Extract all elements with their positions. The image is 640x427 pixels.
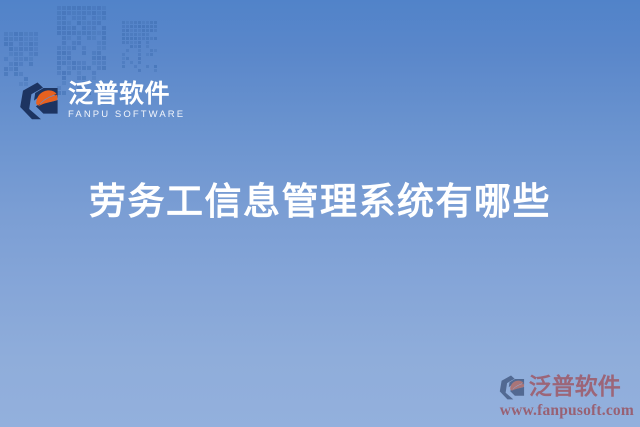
pixel-block xyxy=(146,29,149,32)
pixel-block xyxy=(138,49,141,52)
pixel-block xyxy=(102,26,106,30)
pixel-block xyxy=(87,6,91,10)
pixel-block xyxy=(4,42,8,46)
pixel-block xyxy=(4,67,8,71)
pixel-block xyxy=(82,21,86,25)
pixel-block xyxy=(130,37,133,40)
pixel-block xyxy=(57,61,61,65)
brand-name-en: FANPU SOFTWARE xyxy=(68,108,185,122)
pixel-block xyxy=(29,47,33,51)
pixel-block xyxy=(102,16,106,20)
pixel-block xyxy=(19,37,23,41)
pixel-block xyxy=(4,32,8,36)
pixel-block xyxy=(57,26,61,30)
pixel-block xyxy=(130,41,133,44)
pixel-block xyxy=(97,21,101,25)
pixel-block xyxy=(146,33,149,36)
pixel-block xyxy=(29,37,33,41)
pixel-block xyxy=(14,32,18,36)
pixel-block xyxy=(102,6,106,10)
pixel-block xyxy=(154,49,157,52)
pixel-block xyxy=(9,67,13,71)
pixel-block xyxy=(19,57,23,61)
pixel-block xyxy=(134,33,137,36)
pixel-block xyxy=(77,6,81,10)
pixel-block xyxy=(138,69,141,72)
pixel-block xyxy=(142,21,145,24)
pixel-block xyxy=(122,61,125,64)
pixel-block xyxy=(142,37,145,40)
pixel-block xyxy=(92,51,96,55)
pixel-block xyxy=(92,31,96,35)
pixel-block xyxy=(57,46,61,50)
pixel-block xyxy=(67,66,71,70)
pixel-block xyxy=(102,11,106,15)
pixel-block xyxy=(97,6,101,10)
pixel-block xyxy=(122,57,125,60)
pixel-block xyxy=(29,32,33,36)
pixel-block xyxy=(72,6,76,10)
pixel-block xyxy=(24,32,28,36)
pixel-block xyxy=(57,31,61,35)
brand-wordmark: 泛普软件 FANPU SOFTWARE xyxy=(68,80,185,122)
pixel-block xyxy=(57,16,61,20)
pixel-block xyxy=(72,11,76,15)
pixel-block xyxy=(154,21,157,24)
pixel-block xyxy=(87,31,91,35)
pixel-block xyxy=(57,66,61,70)
brand-logo-lockup: 泛普软件 FANPU SOFTWARE xyxy=(19,80,185,122)
pixel-block xyxy=(19,52,23,56)
pixel-block xyxy=(154,69,157,72)
pixel-block xyxy=(62,61,66,65)
pixel-block xyxy=(134,41,137,44)
pixel-block xyxy=(24,37,28,41)
pixel-block xyxy=(92,16,96,20)
pixel-block xyxy=(62,31,66,35)
pixel-block xyxy=(126,49,129,52)
pixel-block xyxy=(102,41,106,45)
pixel-block xyxy=(87,11,91,15)
pixel-block xyxy=(34,52,38,56)
pixel-block xyxy=(72,61,76,65)
pixel-block xyxy=(134,37,137,40)
pixel-block xyxy=(138,37,141,40)
pixel-block xyxy=(102,36,106,40)
pixel-block xyxy=(97,56,101,60)
pixel-block xyxy=(19,47,23,51)
pixel-block xyxy=(146,45,149,48)
pixel-block xyxy=(134,29,137,32)
pixel-block xyxy=(14,57,18,61)
brand-name-cn: 泛普软件 xyxy=(68,81,185,107)
pixel-block xyxy=(19,42,23,46)
pixel-block xyxy=(4,37,8,41)
pixel-block xyxy=(146,25,149,28)
pixel-block xyxy=(72,41,76,45)
pixel-block xyxy=(72,26,76,30)
pixel-block xyxy=(126,41,129,44)
watermark-url: www.fanpusoft.com xyxy=(500,401,634,420)
pixel-block xyxy=(138,21,141,24)
pixel-block xyxy=(154,25,157,28)
pixel-block xyxy=(82,6,86,10)
pixel-block xyxy=(97,61,101,65)
pixel-block xyxy=(77,21,81,25)
pixel-block xyxy=(122,37,125,40)
pixel-block xyxy=(82,51,86,55)
site-watermark: 泛普软件 www.fanpusoft.com xyxy=(499,375,634,420)
pixel-block xyxy=(146,53,149,56)
pixel-block xyxy=(134,45,137,48)
pixel-block xyxy=(9,42,13,46)
pixel-block xyxy=(19,32,23,36)
pixel-block xyxy=(92,56,96,60)
pixel-block xyxy=(146,41,149,44)
promo-banner: 泛普软件 FANPU SOFTWARE 劳务工信息管理系统有哪些 泛普软件 ww… xyxy=(0,0,640,427)
pixel-block xyxy=(126,33,129,36)
pixel-block xyxy=(138,61,141,64)
pixel-block xyxy=(4,72,8,76)
pixel-block xyxy=(87,66,91,70)
pixel-block xyxy=(34,37,38,41)
pixel-block xyxy=(67,31,71,35)
pixel-block xyxy=(62,11,66,15)
pixel-block xyxy=(92,61,96,65)
pixel-block xyxy=(72,66,76,70)
pixel-block xyxy=(67,11,71,15)
pixel-block xyxy=(24,47,28,51)
pixel-block xyxy=(154,65,157,68)
pixel-block xyxy=(97,31,101,35)
pixel-block xyxy=(62,71,66,75)
pixel-block xyxy=(130,29,133,32)
pixel-block xyxy=(14,37,18,41)
pixel-block xyxy=(130,33,133,36)
pixel-block xyxy=(87,26,91,30)
pixel-block xyxy=(77,41,81,45)
pixel-block xyxy=(130,45,133,48)
pixel-block xyxy=(102,31,106,35)
pixel-block xyxy=(92,11,96,15)
fanpu-logo-mark xyxy=(19,82,59,120)
fanpu-watermark-mark xyxy=(499,375,525,400)
pixel-block xyxy=(102,66,106,70)
pixel-block xyxy=(62,21,66,25)
pixel-block xyxy=(130,21,133,24)
pixel-block xyxy=(62,41,66,45)
pixel-block xyxy=(9,32,13,36)
pixel-block xyxy=(146,65,149,68)
pixel-block xyxy=(82,31,86,35)
pixel-block xyxy=(67,51,71,55)
pixel-block xyxy=(62,46,66,50)
pixel-block xyxy=(57,51,61,55)
pixel-block xyxy=(130,25,133,28)
pixel-block xyxy=(97,51,101,55)
pixel-block xyxy=(142,29,145,32)
pixel-block xyxy=(150,25,153,28)
pixel-block xyxy=(57,21,61,25)
pixel-block xyxy=(19,72,23,76)
pixel-block xyxy=(82,46,86,50)
pixel-block xyxy=(87,36,91,40)
pixel-block xyxy=(126,21,129,24)
pixel-block xyxy=(72,46,76,50)
pixel-block xyxy=(150,53,153,56)
watermark-brand-name: 泛普软件 xyxy=(529,376,621,399)
page-title: 劳务工信息管理系统有哪些 xyxy=(0,179,640,225)
pixel-block xyxy=(138,53,141,56)
pixel-block xyxy=(67,21,71,25)
pixel-block xyxy=(29,62,33,66)
pixel-block xyxy=(142,33,145,36)
pixel-block xyxy=(62,6,66,10)
pixel-block xyxy=(138,57,141,60)
pixel-block xyxy=(9,62,13,66)
pixel-block xyxy=(24,42,28,46)
pixel-block xyxy=(138,45,141,48)
pixel-block xyxy=(77,36,81,40)
pixel-block xyxy=(92,36,96,40)
pixel-block xyxy=(142,25,145,28)
pixel-block xyxy=(34,42,38,46)
pixel-block xyxy=(102,46,106,50)
pixel-block xyxy=(77,16,81,20)
pixel-block xyxy=(92,21,96,25)
pixel-block xyxy=(154,37,157,40)
pixel-block xyxy=(14,52,18,56)
pixel-block xyxy=(122,65,125,68)
pixel-block xyxy=(9,52,13,56)
pixel-block xyxy=(134,25,137,28)
pixel-block xyxy=(82,26,86,30)
pixel-block xyxy=(82,66,86,70)
pixel-block xyxy=(102,56,106,60)
pixel-block xyxy=(154,29,157,32)
pixel-block xyxy=(138,33,141,36)
pixel-block xyxy=(97,66,101,70)
pixel-block xyxy=(14,62,18,66)
pixel-block xyxy=(67,56,71,60)
pixel-block xyxy=(9,47,13,51)
pixel-block xyxy=(62,26,66,30)
pixel-block xyxy=(67,26,71,30)
pixel-block xyxy=(14,72,18,76)
pixel-block xyxy=(134,21,137,24)
pixel-block xyxy=(29,52,33,56)
pixel-block xyxy=(97,11,101,15)
pixel-block xyxy=(77,66,81,70)
pixel-block xyxy=(77,61,81,65)
pixel-block xyxy=(29,57,33,61)
pixel-block xyxy=(138,25,141,28)
pixel-block xyxy=(77,11,81,15)
pixel-block xyxy=(126,25,129,28)
pixel-block xyxy=(57,71,61,75)
pixel-block xyxy=(72,31,76,35)
pixel-block xyxy=(122,41,125,44)
pixel-block xyxy=(126,29,129,32)
pixel-block xyxy=(122,21,125,24)
pixel-block xyxy=(62,36,66,40)
pixel-block xyxy=(29,42,33,46)
pixel-block xyxy=(126,37,129,40)
pixel-block xyxy=(34,32,38,36)
pixel-block xyxy=(82,16,86,20)
pixel-block xyxy=(67,61,71,65)
pixel-block xyxy=(92,71,96,75)
pixel-block xyxy=(150,21,153,24)
pixel-block xyxy=(77,71,81,75)
pixel-block xyxy=(97,16,101,20)
pixel-block xyxy=(150,49,153,52)
pixel-block xyxy=(14,47,18,51)
pixel-block xyxy=(24,57,28,61)
pixel-block xyxy=(134,65,137,68)
pixel-block xyxy=(146,21,149,24)
pixel-block xyxy=(150,37,153,40)
pixel-block xyxy=(150,29,153,32)
pixel-block xyxy=(92,6,96,10)
pixel-block xyxy=(57,56,61,60)
pixel-block xyxy=(57,11,61,15)
pixel-block xyxy=(72,16,76,20)
pixel-block xyxy=(57,6,61,10)
pixel-block xyxy=(77,31,81,35)
pixel-block xyxy=(92,26,96,30)
pixel-block xyxy=(82,11,86,15)
pixel-block xyxy=(126,57,129,60)
pixel-block xyxy=(4,57,8,61)
pixel-city-decoration xyxy=(0,0,190,80)
pixel-block xyxy=(82,61,86,65)
pixel-block xyxy=(14,67,18,71)
pixel-block xyxy=(62,56,66,60)
pixel-block xyxy=(122,25,125,28)
pixel-block xyxy=(138,41,141,44)
pixel-block xyxy=(102,61,106,65)
pixel-block xyxy=(19,62,23,66)
pixel-block xyxy=(138,29,141,32)
pixel-block xyxy=(67,71,71,75)
watermark-logo-row: 泛普软件 xyxy=(499,375,634,400)
pixel-block xyxy=(9,37,13,41)
pixel-block xyxy=(67,46,71,50)
pixel-block xyxy=(97,46,101,50)
pixel-block xyxy=(34,47,38,51)
pixel-block xyxy=(87,21,91,25)
pixel-block xyxy=(122,29,125,32)
pixel-block xyxy=(62,51,66,55)
pixel-block xyxy=(67,6,71,10)
pixel-block xyxy=(62,16,66,20)
pixel-block xyxy=(97,41,101,45)
pixel-block xyxy=(122,53,125,56)
pixel-block xyxy=(146,37,149,40)
pixel-block xyxy=(122,33,125,36)
pixel-block xyxy=(130,61,133,64)
pixel-block xyxy=(67,36,71,40)
